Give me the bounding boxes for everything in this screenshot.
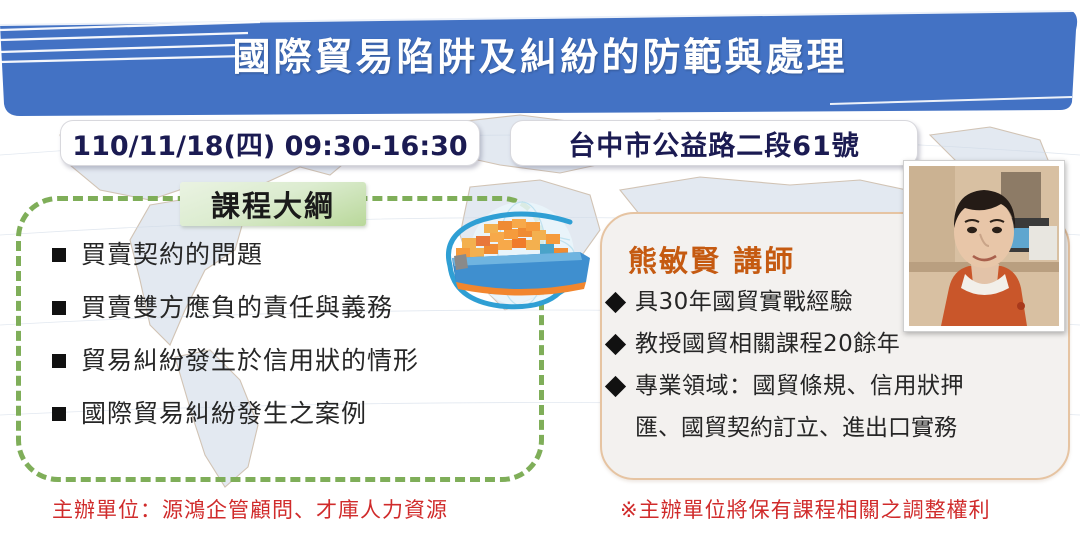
square-bullet-icon <box>52 354 66 368</box>
list-item: 專業領域：國貿條規、信用狀押 <box>608 370 1068 402</box>
square-bullet-icon <box>52 407 66 421</box>
instructor-item-label: 具30年國貿實戰經驗 <box>635 286 853 318</box>
instructor-item-label: 教授國貿相關課程20餘年 <box>635 328 900 360</box>
outline-item-label: 國際貿易糾紛發生之案例 <box>81 399 367 429</box>
course-poster: 國際貿易陷阱及糾紛的防範與處理 110/11/18(四) 09:30-16:30… <box>0 0 1080 540</box>
square-bullet-icon <box>52 248 66 262</box>
square-bullet-icon <box>52 301 66 315</box>
outline-item-label: 買賣雙方應負的責任與義務 <box>81 293 393 323</box>
diamond-bullet-icon <box>605 376 626 397</box>
outline-item-label: 貿易糾紛發生於信用狀的情形 <box>81 346 419 376</box>
footer: 主辦單位：源鴻企管顧問、才庫人力資源 ※主辦單位將保有課程相關之調整權利 <box>0 492 1080 532</box>
disclaimer-text: ※主辦單位將保有課程相關之調整權利 <box>620 494 991 524</box>
course-outline-heading: 課程大綱 <box>180 182 366 226</box>
list-item: 貿易糾紛發生於信用狀的情形 <box>52 346 522 376</box>
page-title: 國際貿易陷阱及糾紛的防範與處理 <box>0 34 1080 80</box>
cargo-ship-globe-icon <box>430 196 610 326</box>
diamond-bullet-icon <box>605 334 626 355</box>
list-item: 教授國貿相關課程20餘年 <box>608 328 1068 360</box>
instructor-item-continuation: 匯、國貿契約訂立、進出口實務 <box>608 412 1068 444</box>
course-venue-badge: 台中市公益路二段61號 <box>510 120 918 166</box>
instructor-photo <box>903 160 1065 332</box>
outline-item-label: 買賣契約的問題 <box>81 240 263 270</box>
organizer-text: 主辦單位：源鴻企管顧問、才庫人力資源 <box>52 494 448 524</box>
instructor-item-label: 專業領域：國貿條規、信用狀押 <box>635 370 964 402</box>
list-item: 國際貿易糾紛發生之案例 <box>52 399 522 429</box>
instructor-name: 熊敏賢 講師 <box>628 238 795 280</box>
course-date-badge: 110/11/18(四) 09:30-16:30 <box>60 120 480 166</box>
